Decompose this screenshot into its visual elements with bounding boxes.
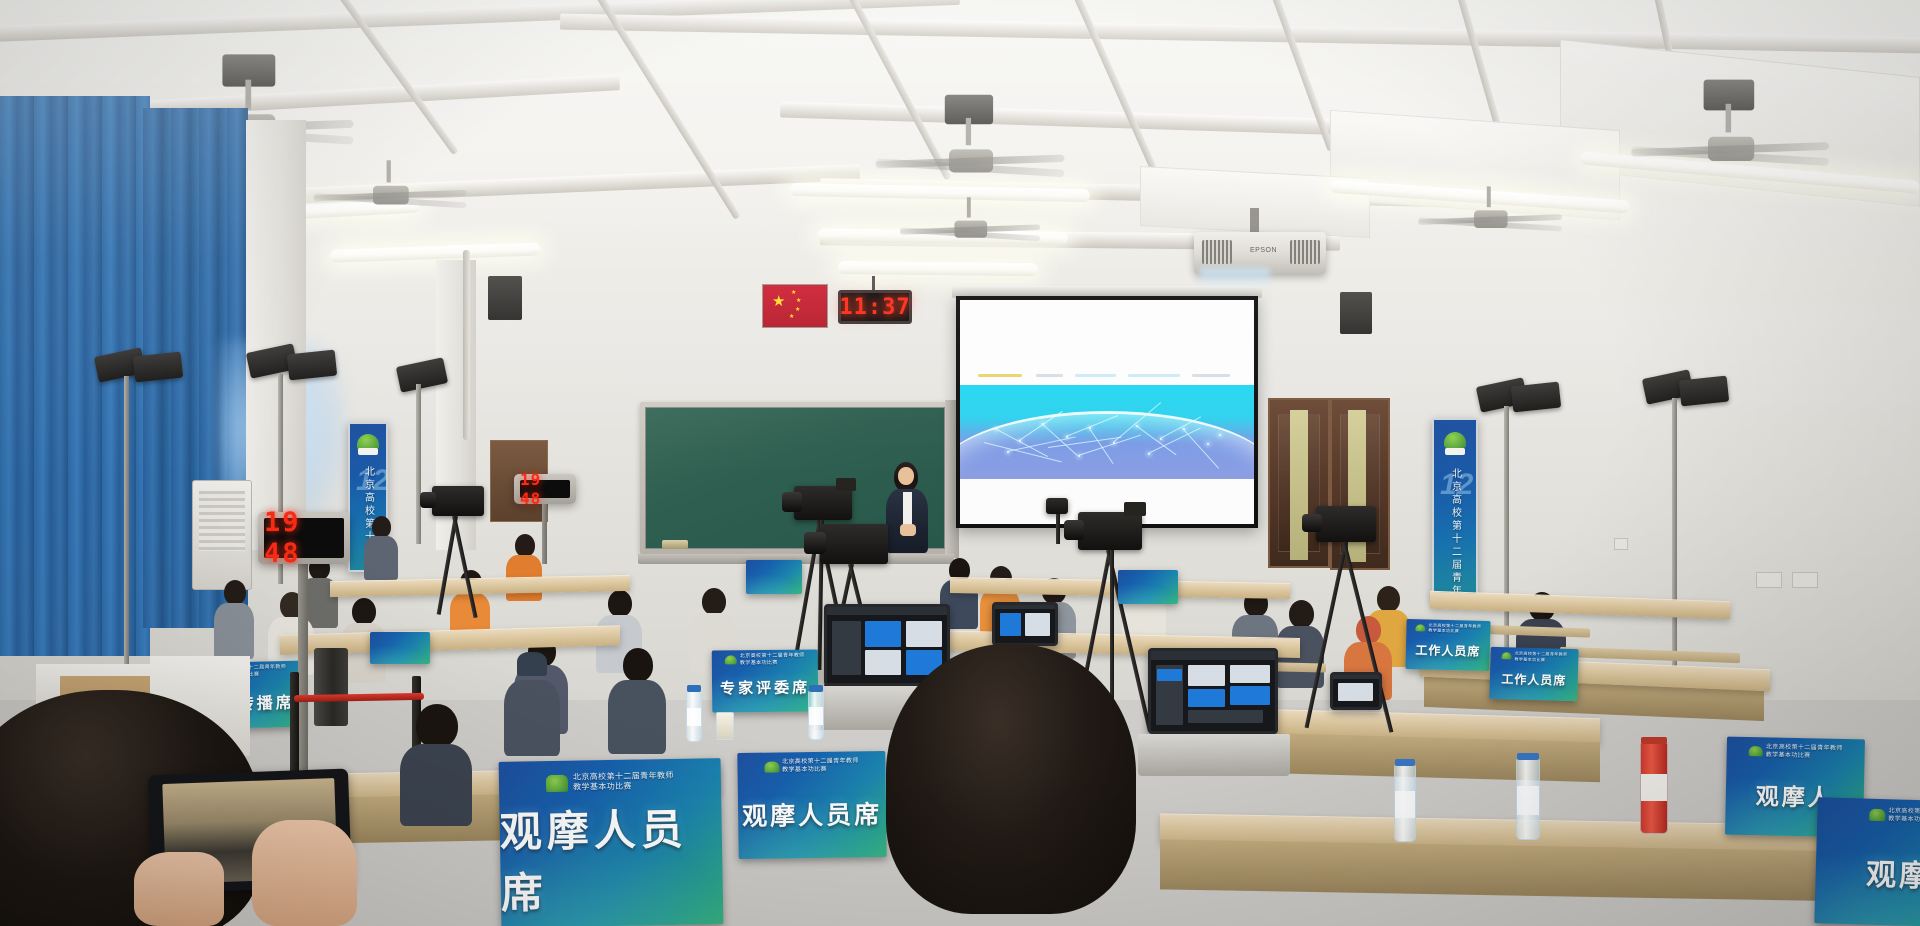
preview-monitor[interactable]: [1330, 672, 1382, 710]
ceiling-fan: [1631, 128, 1829, 172]
banner-text: 北京高校第十二届青年教师 教学基本功比赛: [1448, 468, 1463, 598]
placard-main-text: 观摩人员席: [499, 795, 723, 921]
placard-seat-small: [1118, 570, 1178, 604]
placard-main-text: 专家评委席: [720, 677, 810, 699]
ceiling-fan: [876, 141, 1065, 183]
placard-main-text: 工作人员席: [1501, 670, 1566, 689]
placard-subheader: 教学基本功比赛: [1428, 628, 1481, 635]
water-bottle[interactable]: [686, 690, 702, 742]
event-logo-icon: [1501, 652, 1511, 659]
placard-observer-seat-far-right: 北京高校第十二届青年教师 教学基本功比赛 观摩人: [1814, 797, 1920, 926]
flag-small-star: ★: [795, 307, 800, 313]
paper-cup[interactable]: [716, 712, 734, 740]
wall-outlet: [1614, 538, 1628, 550]
event-logo-icon: [764, 761, 779, 772]
preview-monitor[interactable]: [992, 602, 1058, 646]
placard-observer-seat-front: 北京高校第十二届青年教师 教学基本功比赛 观摩人员席: [499, 758, 724, 926]
placard-main-text: 工作人员席: [1415, 641, 1480, 660]
ceiling-light: [838, 261, 1038, 276]
placard-staff-seat: 北京高校第十二届青年教师 教学基本功比赛 工作人员席: [1489, 647, 1578, 701]
ceiling-fan: [1418, 204, 1562, 236]
countdown-time: 19 48: [520, 470, 570, 508]
thermos-flask[interactable]: [314, 648, 348, 726]
water-bottle[interactable]: [1394, 764, 1416, 842]
projector-beam: [1200, 268, 1270, 290]
flag-small-star: ★: [796, 298, 801, 304]
audience-member: [400, 704, 472, 824]
flag-small-star: ★: [789, 314, 794, 320]
audience-member: [608, 648, 666, 752]
placard-seat-small: [370, 632, 430, 664]
audience-member: [504, 650, 560, 754]
foreground-spectator: [848, 644, 1178, 926]
lecture-hall-photo: ★ ★ ★ ★ ★ 11:37: [0, 0, 1920, 926]
ceiling-fan: [314, 179, 467, 213]
slide-globe-graphic: [960, 385, 1254, 479]
placard-subheader: 教学基本功比赛: [573, 781, 674, 794]
wall-speaker: [488, 276, 522, 320]
event-logo-icon: [1869, 808, 1885, 820]
soda-bottle[interactable]: [1640, 742, 1668, 834]
china-flag: ★ ★ ★ ★ ★: [762, 284, 828, 328]
rollup-banner-right: 12 北京高校第十二届青年教师 教学基本功比赛: [1432, 418, 1478, 598]
event-logo-icon: [725, 656, 737, 665]
event-logo-icon: [1415, 624, 1425, 631]
door-frame-strip: [1290, 410, 1308, 560]
flag-big-star: ★: [772, 294, 785, 309]
wall-pipe: [463, 250, 470, 440]
wall-outlet: [1792, 572, 1818, 588]
countdown-time: 19 48: [264, 507, 344, 569]
barrier-rope: [294, 693, 424, 702]
hand-holding-phone: [252, 820, 357, 926]
projection-screen: [956, 296, 1258, 528]
countdown-timer-main: 19 48: [258, 512, 350, 564]
air-conditioner: [192, 480, 252, 590]
placard-seat-small: [746, 560, 802, 594]
audience-member: [364, 516, 398, 578]
placard-judges-seat: 北京高校第十二届青年教师 教学基本功比赛 专家评委席: [712, 649, 819, 712]
wall-column: [246, 120, 306, 550]
flag-small-star: ★: [791, 290, 796, 296]
event-logo-icon: [546, 775, 568, 792]
wall-clock-time: 11:37: [839, 295, 910, 320]
water-bottle[interactable]: [1516, 758, 1540, 840]
placard-main-text: 观摩人: [1866, 850, 1920, 897]
hand-holding-phone: [134, 852, 224, 926]
countdown-timer-secondary: 19 48: [514, 474, 576, 504]
event-logo-icon: [1749, 746, 1763, 756]
placard-subheader: 教学基本功比赛: [740, 659, 805, 666]
presenter: [884, 462, 930, 558]
projector-brand-label: EPSON: [1250, 247, 1277, 254]
audience-member: [214, 580, 254, 658]
board-eraser: [662, 540, 688, 549]
placard-staff-seat: 北京高校第十二届青年教师 教学基本功比赛 工作人员席: [1405, 619, 1490, 671]
water-bottle[interactable]: [808, 690, 824, 740]
timer-stand: [542, 504, 547, 564]
wall-outlet: [1756, 572, 1782, 588]
wall-led-clock: 11:37: [838, 290, 912, 324]
placard-subheader: 教学基本功比赛: [1766, 751, 1843, 761]
timer-stand: [298, 560, 308, 770]
wall-speaker: [1340, 292, 1372, 334]
ceiling-fan: [900, 214, 1040, 245]
placard-subheader: 教学基本功比赛: [1888, 815, 1920, 825]
